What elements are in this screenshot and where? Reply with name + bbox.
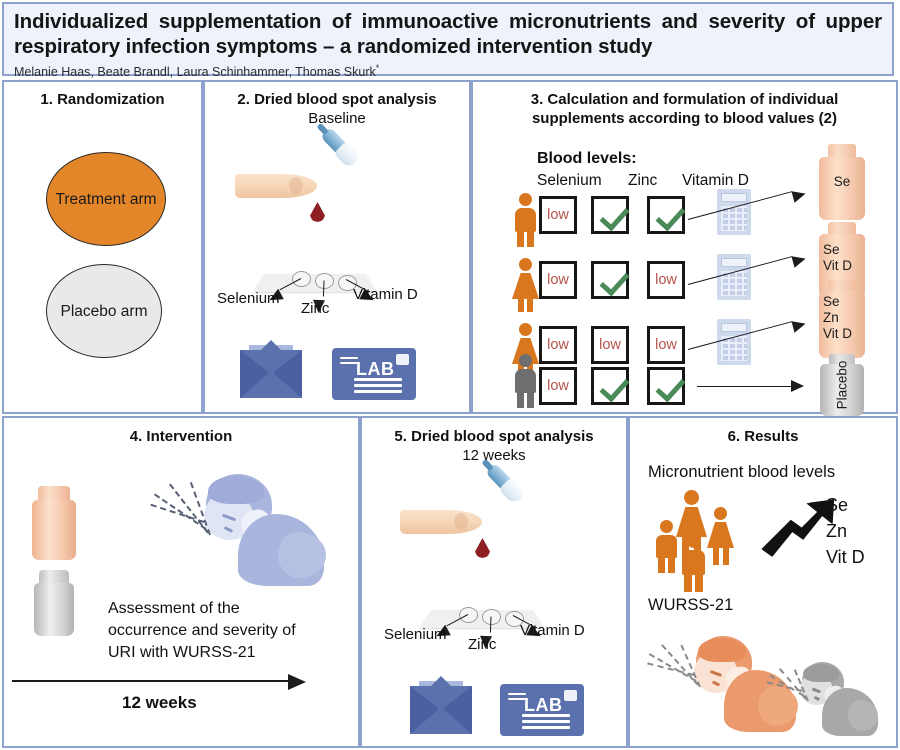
blood-level-cell-zinc-row4: [591, 367, 629, 405]
nutrient-se: Se: [826, 492, 865, 518]
blood-level-cell-vitamind-row1: [647, 196, 685, 234]
check-icon: [656, 372, 686, 403]
lab-card-icon: LAB: [500, 684, 584, 736]
panel-results: 6. Results Micronutrient blood levels: [628, 416, 898, 748]
panel1-title: 1. Randomization: [4, 90, 201, 109]
title-line-1: Individualized supplementation of immuno…: [14, 9, 882, 34]
finger-icon: [235, 174, 317, 198]
person-icon-woman-orange: [510, 258, 538, 312]
title-line-2: respiratory infection symptoms – a rando…: [14, 34, 882, 59]
bottle-supplement-row3: Se Zn Vit D: [819, 280, 865, 358]
placebo-arrow-line: [697, 386, 795, 387]
bottle-supplement-row1: Se: [819, 144, 865, 220]
bottle-label-line: Se: [823, 294, 865, 310]
bottle-label: Se: [819, 174, 865, 190]
calculator-icon: [717, 319, 751, 365]
bottle-placebo-row4: Placebo: [820, 354, 864, 416]
blood-spot-circle: [315, 273, 334, 289]
title-header: Individualized supplementation of immuno…: [2, 2, 894, 76]
check-icon: [656, 201, 686, 232]
blood-level-cell-zinc-row3: low: [591, 326, 629, 364]
bottle-label: Se Zn Vit D: [819, 294, 865, 342]
blood-spot-circle: [482, 609, 501, 625]
spot-label-vitamind: Vitamin D: [520, 622, 585, 639]
treatment-arm-ellipse: Treatment arm: [46, 152, 166, 246]
assessment-text: Assessment of the occurrence and severit…: [108, 598, 308, 664]
panel2-subtitle: Baseline: [205, 110, 469, 127]
placebo-arrow-head: [791, 380, 804, 392]
person-icon-man-gray: [510, 354, 538, 408]
envelope-icon: [240, 350, 302, 398]
finger-icon: [400, 510, 482, 534]
result-label-blood-levels: Micronutrient blood levels: [648, 463, 835, 482]
bottle-placebo-icon: [34, 570, 74, 636]
bottle-label-line: Zn: [823, 310, 865, 326]
graphical-abstract: Individualized supplementation of immuno…: [0, 0, 900, 750]
bottle-label-line: Vit D: [823, 326, 865, 342]
author-names: Melanie Haas, Beate Brandl, Laura Schinh…: [14, 65, 376, 79]
panel3-title-line-1: 3. Calculation and formulation of indivi…: [473, 90, 896, 109]
result-label-wurss: WURSS-21: [648, 596, 733, 615]
column-header-vitamind: Vitamin D: [682, 172, 749, 190]
lab-card-text: LAB: [356, 359, 395, 380]
spot-label-zinc: Zinc: [468, 636, 496, 653]
author-list: Melanie Haas, Beate Brandl, Laura Schinh…: [14, 63, 882, 79]
blood-level-cell-zinc-row1: [591, 196, 629, 234]
lab-card-text: LAB: [524, 695, 563, 716]
panel-intervention: 4. Intervention Assessment of the: [2, 416, 360, 748]
column-header-selenium: Selenium: [537, 172, 602, 190]
cell-value-low: low: [650, 329, 682, 361]
blood-level-cell-vitamind-row2: low: [647, 261, 685, 299]
panel5-title: 5. Dried blood spot analysis: [362, 427, 626, 446]
check-icon: [600, 372, 630, 403]
bottle-supplement-icon: [32, 486, 76, 560]
panel-randomization: 1. Randomization Treatment arm Placebo a…: [2, 80, 203, 414]
nutrient-zn: Zn: [826, 518, 865, 544]
panel6-title: 6. Results: [630, 427, 896, 446]
nutrient-list: Se Zn Vit D: [826, 492, 865, 570]
timeline-arrow-line: [12, 680, 294, 682]
panel-dbs-baseline: 2. Dried blood spot analysis Baseline Se…: [203, 80, 471, 414]
calculator-icon: [717, 254, 751, 300]
spot-label-vitamind: Vitamin D: [353, 286, 418, 303]
blood-spot-circle: [459, 607, 478, 623]
bottle-label-line: Vit D: [823, 258, 865, 274]
blood-level-cell-selenium-row4: low: [539, 367, 577, 405]
check-icon: [600, 266, 630, 297]
bottle-label-line: Se: [819, 174, 865, 190]
blood-level-cell-vitamind-row3: low: [647, 326, 685, 364]
panel2-title: 2. Dried blood spot analysis: [205, 90, 469, 109]
cell-value-low: low: [650, 264, 682, 296]
placebo-arm-ellipse: Placebo arm: [46, 264, 162, 358]
bottle-label-line: Se: [823, 242, 865, 258]
cell-value-low: low: [542, 370, 574, 402]
column-header-zinc: Zinc: [628, 172, 657, 190]
lab-card-icon: LAB: [332, 348, 416, 400]
treatment-arm-label: Treatment arm: [55, 190, 156, 209]
formulation-arrow-head: [791, 253, 807, 268]
lancet-icon: [318, 125, 362, 169]
envelope-icon: [410, 686, 472, 734]
formulation-arrow-head: [791, 318, 807, 333]
spot-label-selenium: Selenium: [217, 290, 280, 307]
cell-value-low: low: [542, 329, 574, 361]
blood-spot-circle: [292, 271, 311, 287]
bottle-label-line: Placebo: [834, 361, 850, 410]
blood-drop-icon: [475, 538, 490, 558]
spot-label-zinc: Zinc: [301, 300, 329, 317]
panel3-title-line-2: supplements according to blood values (2…: [473, 109, 896, 128]
blood-level-cell-zinc-row2: [591, 261, 629, 299]
blood-level-cell-vitamind-row4: [647, 367, 685, 405]
author-footnote-marker: *: [376, 63, 380, 73]
blood-level-cell-selenium-row1: low: [539, 196, 577, 234]
cell-value-low: low: [542, 264, 574, 296]
bottle-label: Placebo: [820, 354, 864, 416]
panel-calculation: 3. Calculation and formulation of indivi…: [471, 80, 898, 414]
duration-label: 12 weeks: [122, 693, 197, 713]
sneezing-person-icon-blue: [194, 474, 324, 584]
blood-level-cell-selenium-row3: low: [539, 326, 577, 364]
page-title: Individualized supplementation of immuno…: [14, 9, 882, 59]
blood-level-cell-selenium-row2: low: [539, 261, 577, 299]
person-icon-man-orange: [510, 193, 538, 247]
cell-value-low: low: [594, 329, 626, 361]
nutrient-vitd: Vit D: [826, 544, 865, 570]
formulation-arrow-head: [791, 188, 807, 203]
timeline-arrow-head: [288, 674, 306, 690]
placebo-arm-label: Placebo arm: [60, 302, 147, 321]
panel4-title: 4. Intervention: [4, 427, 358, 446]
spot-label-selenium: Selenium: [384, 626, 447, 643]
trend-up-arrow-icon: [758, 498, 836, 560]
bottle-label: Se Vit D: [819, 242, 865, 274]
check-icon: [600, 201, 630, 232]
lancet-icon: [483, 461, 527, 505]
blood-drop-icon: [310, 202, 325, 222]
calculator-icon: [717, 189, 751, 235]
cell-value-low: low: [542, 199, 574, 231]
blood-levels-label: Blood levels:: [537, 150, 637, 168]
panel-dbs-12weeks: 5. Dried blood spot analysis 12 weeks Se…: [360, 416, 628, 748]
people-group-icon: [658, 490, 748, 580]
